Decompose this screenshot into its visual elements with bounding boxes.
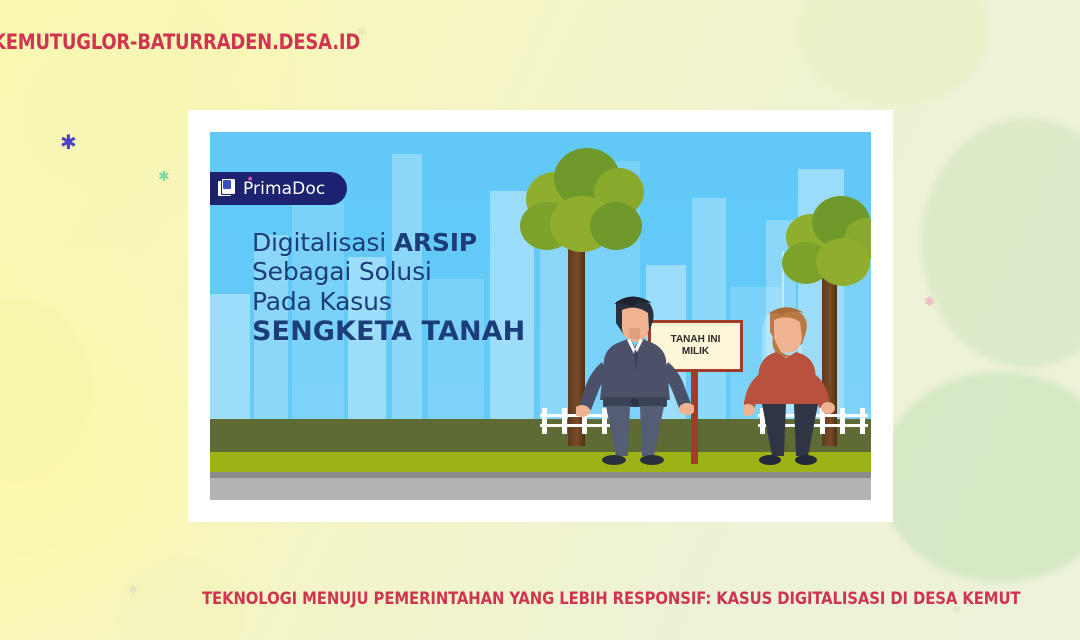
person-man-in-red-shirt	[744, 300, 836, 468]
brand-name: PrimaDoc	[243, 179, 325, 199]
featured-image-card[interactable]: TANAH INI MILIK	[188, 110, 893, 522]
decorative-asterisk-1: ✱	[60, 132, 77, 152]
post-title[interactable]: TEKNOLOGI MENUJU PEMERINTAHAN YANG LEBIH…	[202, 589, 1020, 609]
decorative-asterisk-2: ✱	[158, 170, 170, 184]
brand-accent-star: *	[248, 175, 252, 187]
man-in-red-shirt-icon	[744, 300, 836, 468]
headline-line-1-regular: Digitalisasi	[252, 228, 394, 257]
decorative-asterisk-7: ✱	[924, 296, 935, 309]
illustration-headline: Digitalisasi ARSIP Sebagai Solusi Pada K…	[252, 228, 525, 347]
road	[210, 478, 871, 500]
headline-line-4: SENGKETA TANAH	[252, 316, 525, 348]
headline-line-1: Digitalisasi ARSIP	[252, 228, 525, 257]
headline-line-3: Pada Kasus	[252, 287, 525, 316]
documents-icon	[218, 179, 237, 198]
decorative-asterisk-9: ✱	[128, 584, 138, 596]
man-in-suit-icon	[576, 284, 694, 468]
tree-leaf	[816, 238, 870, 286]
person-man-in-suit	[576, 284, 694, 468]
site-name[interactable]: KEMUTUGLOR-BATURRADEN.DESA.ID	[0, 30, 360, 54]
headline-line-2: Sebagai Solusi	[252, 257, 525, 286]
tree-leaf	[590, 202, 642, 250]
headline-line-1-bold: ARSIP	[394, 228, 477, 257]
illustration: TANAH INI MILIK	[210, 132, 871, 500]
building-1	[210, 294, 250, 419]
primadoc-brand-badge: PrimaDoc *	[210, 172, 347, 205]
